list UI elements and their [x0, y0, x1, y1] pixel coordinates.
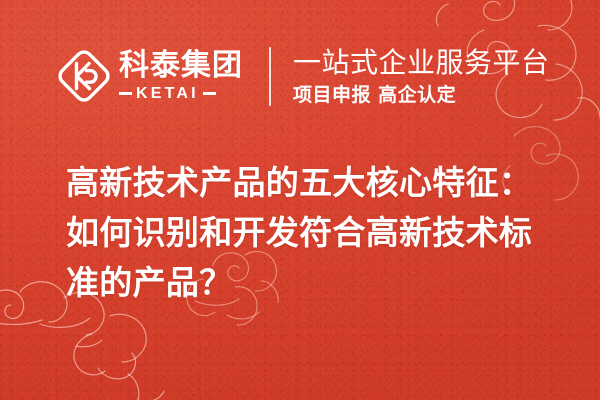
brand-logo[interactable]: 科泰集团 KETAI — [58, 50, 243, 103]
brand-wordmark: 科泰集团 KETAI — [119, 50, 243, 103]
tagline-secondary: 项目申报 高企认定 — [293, 83, 550, 107]
company-name-cn: 科泰集团 — [119, 50, 243, 82]
dash-right-icon — [203, 92, 216, 95]
ketai-diamond-monogram-icon — [58, 50, 110, 102]
brand-tagline: 一站式企业服务平台 项目申报 高企认定 — [293, 46, 550, 107]
company-name-en-row: KETAI — [119, 85, 243, 103]
tagline-primary: 一站式企业服务平台 — [293, 46, 550, 79]
dash-left-icon — [119, 92, 132, 95]
header-divider — [269, 47, 271, 106]
article-headline: 高新技术产品的五大核心特征：如何识别和开发符合高新技术标准的产品？ — [66, 158, 552, 308]
banner-header: 科泰集团 KETAI 一站式企业服务平台 项目申报 高企认定 — [0, 30, 600, 122]
company-name-en: KETAI — [136, 85, 199, 103]
promo-banner: 科泰集团 KETAI 一站式企业服务平台 项目申报 高企认定 高新技术产品的五大… — [0, 0, 600, 400]
